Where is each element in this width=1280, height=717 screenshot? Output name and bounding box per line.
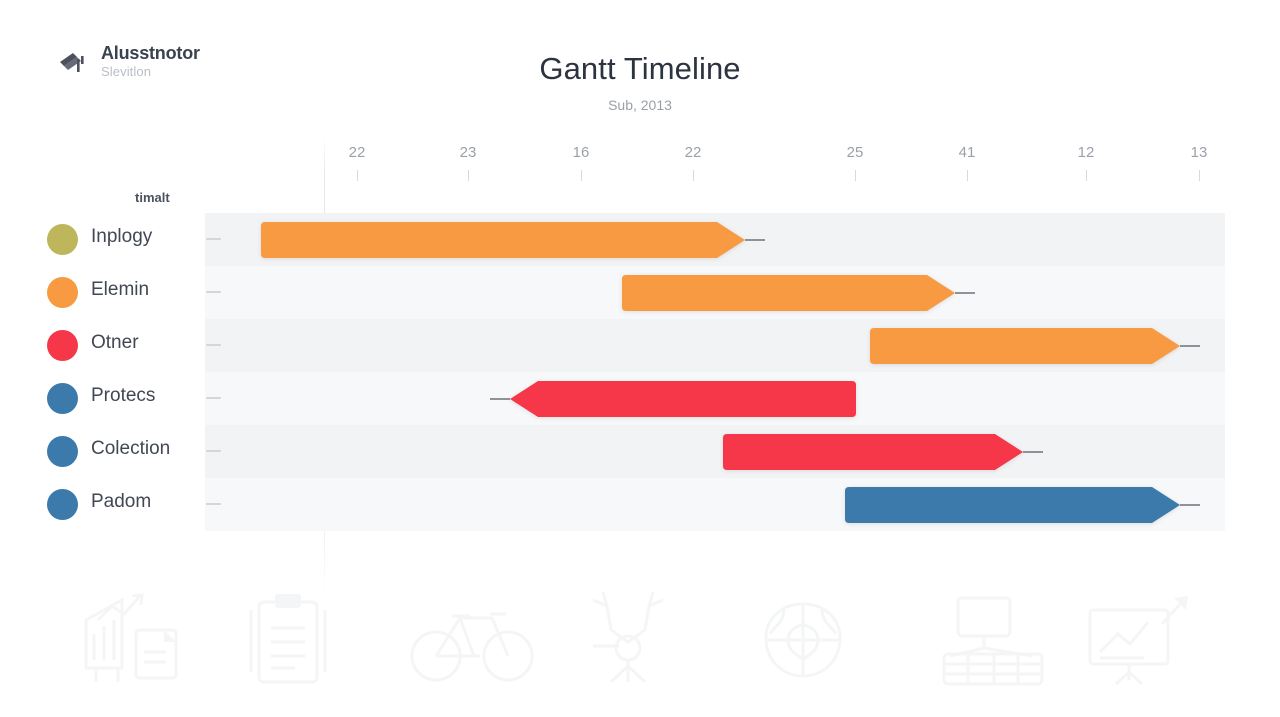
row-color-dot (47, 489, 78, 520)
rows-column-header: timalt (135, 190, 170, 205)
axis-tick-mark (693, 170, 694, 181)
row-leader-dash (206, 344, 221, 346)
gantt-bar[interactable] (622, 275, 955, 311)
bar-stem (955, 292, 975, 294)
row-color-dot (47, 436, 78, 467)
axis-tick-label: 16 (573, 144, 590, 161)
row-label: Padom (91, 491, 151, 513)
gantt-chart-page: Alusstnotor Slevitlon Gantt Timeline Sub… (0, 0, 1280, 717)
axis-tick-mark (1199, 170, 1200, 181)
row-color-dot (47, 383, 78, 414)
row-color-dot (47, 277, 78, 308)
axis-tick-label: 22 (349, 144, 366, 161)
gantt-row[interactable]: Protecs (0, 372, 1280, 425)
axis-tick-mark (855, 170, 856, 181)
axis-tick-label: 22 (685, 144, 702, 161)
gantt-bar[interactable] (870, 328, 1180, 364)
clipboard-icon (243, 590, 333, 695)
row-leader-dash (206, 450, 221, 452)
page-title: Gantt Timeline (0, 51, 1280, 87)
brain-icon (748, 590, 858, 695)
bar-chart-document-icon (78, 590, 198, 695)
gantt-bar[interactable] (845, 487, 1180, 523)
gantt-bar[interactable] (261, 222, 745, 258)
row-label: Colection (91, 438, 170, 460)
gantt-row[interactable]: Colection (0, 425, 1280, 478)
bicycle-icon (408, 590, 538, 691)
decorative-watermarks (0, 572, 1280, 712)
gantt-bar[interactable] (510, 381, 856, 417)
axis-tick-mark (581, 170, 582, 181)
gantt-bar[interactable] (723, 434, 1023, 470)
bar-stem (1023, 451, 1043, 453)
axis-tick-mark (468, 170, 469, 181)
antler-tree-icon (573, 590, 683, 695)
row-leader-dash (206, 503, 221, 505)
row-background-band (205, 425, 1225, 478)
axis-tick-label: 41 (959, 144, 976, 161)
axis-tick-label: 23 (460, 144, 477, 161)
axis-tick-mark (967, 170, 968, 181)
axis-tick-mark (1086, 170, 1087, 181)
gantt-row[interactable]: Inplogy (0, 213, 1280, 266)
row-label: Protecs (91, 385, 155, 407)
axis-tick-mark (357, 170, 358, 181)
row-label: Elemin (91, 279, 149, 301)
row-color-dot (47, 224, 78, 255)
row-color-dot (47, 330, 78, 361)
row-label: Inplogy (91, 226, 152, 248)
row-label: Otner (91, 332, 139, 354)
axis-tick-label: 25 (847, 144, 864, 161)
bar-stem (1180, 345, 1200, 347)
row-leader-dash (206, 238, 221, 240)
row-leader-dash (206, 397, 221, 399)
gantt-row[interactable]: Padom (0, 478, 1280, 531)
bar-stem (745, 239, 765, 241)
presentation-board-icon (1078, 590, 1198, 695)
gantt-row[interactable]: Otner (0, 319, 1280, 372)
computer-keyboard-icon (928, 590, 1058, 695)
axis-tick-label: 13 (1191, 144, 1208, 161)
page-subtitle: Sub, 2013 (0, 97, 1280, 113)
bar-stem (490, 398, 510, 400)
bar-stem (1180, 504, 1200, 506)
axis-tick-label: 12 (1078, 144, 1095, 161)
gantt-row[interactable]: Elemin (0, 266, 1280, 319)
row-leader-dash (206, 291, 221, 293)
